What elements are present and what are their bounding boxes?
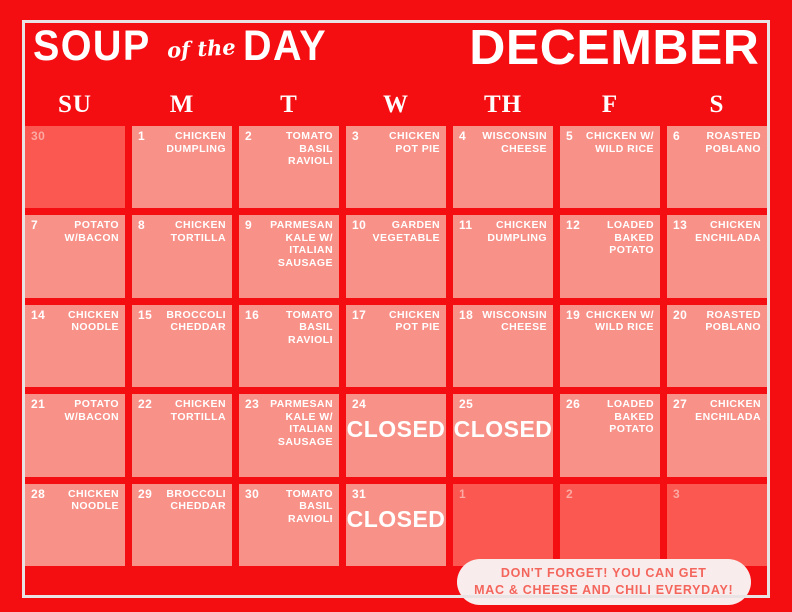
- day-number: 9: [245, 219, 252, 231]
- closed-label: CLOSED: [453, 416, 553, 443]
- title-script-word: of the: [166, 36, 236, 61]
- day-number: 24: [352, 398, 366, 410]
- calendar-day-cell[interactable]: 5CHICKEN W/ WILD RICE: [560, 126, 660, 208]
- weekday-m: M: [132, 91, 232, 119]
- day-number: 25: [459, 398, 473, 410]
- day-number: 8: [138, 219, 145, 231]
- soup-name: LOADED BAKED POTATO: [582, 219, 654, 257]
- calendar-day-cell[interactable]: 12LOADED BAKED POTATO: [560, 215, 660, 297]
- calendar-day-cell[interactable]: 3: [667, 484, 767, 566]
- day-number: 30: [245, 488, 259, 500]
- calendar-day-cell[interactable]: 24CLOSED: [346, 394, 446, 476]
- calendar-day-cell[interactable]: 28CHICKEN NOODLE: [25, 484, 125, 566]
- closed-label: CLOSED: [346, 506, 446, 533]
- soup-name: CHICKEN TORTILLA: [154, 398, 226, 423]
- day-number: 14: [31, 309, 45, 321]
- calendar-inner: SOUP of the DAY DECEMBER SU M T W TH F S…: [25, 23, 767, 595]
- title-day-word: DAY: [243, 25, 327, 68]
- promo-line-2: MAC & CHEESE AND CHILI EVERYDAY!: [474, 582, 733, 599]
- soup-name: BROCCOLI CHEDDAR: [154, 488, 226, 513]
- day-number: 23: [245, 398, 259, 410]
- calendar-day-cell[interactable]: 26LOADED BAKED POTATO: [560, 394, 660, 476]
- calendar-day-cell[interactable]: 25CLOSED: [453, 394, 553, 476]
- calendar-day-cell[interactable]: 1: [453, 484, 553, 566]
- calendar-day-cell[interactable]: 29BROCCOLI CHEDDAR: [132, 484, 232, 566]
- calendar-day-cell[interactable]: 8CHICKEN TORTILLA: [132, 215, 232, 297]
- day-number: 22: [138, 398, 152, 410]
- day-number: 19: [566, 309, 580, 321]
- calendar-day-cell[interactable]: 27CHICKEN ENCHILADA: [667, 394, 767, 476]
- calendar-day-cell[interactable]: 19CHICKEN W/ WILD RICE: [560, 305, 660, 387]
- soup-name: CHICKEN NOODLE: [47, 488, 119, 513]
- calendar-day-cell[interactable]: 18WISCONSIN CHEESE: [453, 305, 553, 387]
- calendar-day-cell[interactable]: 13CHICKEN ENCHILADA: [667, 215, 767, 297]
- day-number: 16: [245, 309, 259, 321]
- calendar-day-cell[interactable]: 23PARMESAN KALE W/ ITALIAN SAUSAGE: [239, 394, 339, 476]
- calendar-day-cell[interactable]: 3CHICKEN POT PIE: [346, 126, 446, 208]
- calendar-day-cell[interactable]: 14CHICKEN NOODLE: [25, 305, 125, 387]
- day-number: 17: [352, 309, 366, 321]
- day-number: 29: [138, 488, 152, 500]
- soup-name: BROCCOLI CHEDDAR: [154, 309, 226, 334]
- soup-name: WISCONSIN CHEESE: [475, 309, 547, 334]
- soup-name: PARMESAN KALE W/ ITALIAN SAUSAGE: [261, 219, 333, 269]
- soup-name: CHICKEN POT PIE: [368, 309, 440, 334]
- soup-name: ROASTED POBLANO: [689, 309, 761, 334]
- day-number: 31: [352, 488, 366, 500]
- calendar-day-cell[interactable]: 20ROASTED POBLANO: [667, 305, 767, 387]
- day-number: 2: [245, 130, 252, 142]
- soup-name: CHICKEN POT PIE: [368, 130, 440, 155]
- soup-of-the-day-title: SOUP of the DAY: [33, 25, 334, 68]
- title-soup-word: SOUP: [33, 25, 151, 68]
- day-number: 21: [31, 398, 45, 410]
- calendar-day-cell[interactable]: 11CHICKEN DUMPLING: [453, 215, 553, 297]
- promo-banner: DON'T FORGET! YOU CAN GET MAC & CHEESE A…: [457, 559, 751, 605]
- day-number: 5: [566, 130, 573, 142]
- calendar-grid: 301CHICKEN DUMPLING2TOMATO BASIL RAVIOLI…: [25, 126, 767, 566]
- soup-name: CHICKEN W/ WILD RICE: [582, 130, 654, 155]
- day-number: 3: [673, 488, 680, 500]
- soup-name: TOMATO BASIL RAVIOLI: [261, 488, 333, 526]
- calendar-day-cell[interactable]: 22CHICKEN TORTILLA: [132, 394, 232, 476]
- day-number: 6: [673, 130, 680, 142]
- calendar-day-cell[interactable]: 4WISCONSIN CHEESE: [453, 126, 553, 208]
- day-number: 27: [673, 398, 687, 410]
- calendar-day-cell[interactable]: 16TOMATO BASIL RAVIOLI: [239, 305, 339, 387]
- soup-name: POTATO W/BACON: [47, 219, 119, 244]
- calendar-day-cell[interactable]: 17CHICKEN POT PIE: [346, 305, 446, 387]
- soup-name: CHICKEN ENCHILADA: [689, 398, 761, 423]
- soup-name: GARDEN VEGETABLE: [368, 219, 440, 244]
- day-number: 28: [31, 488, 45, 500]
- calendar-day-cell[interactable]: 2TOMATO BASIL RAVIOLI: [239, 126, 339, 208]
- calendar-day-cell[interactable]: 10GARDEN VEGETABLE: [346, 215, 446, 297]
- day-number: 2: [566, 488, 573, 500]
- day-number: 7: [31, 219, 38, 231]
- calendar-header: SOUP of the DAY DECEMBER: [25, 23, 767, 85]
- day-number: 20: [673, 309, 687, 321]
- promo-line-1: DON'T FORGET! YOU CAN GET: [501, 565, 707, 582]
- weekday-header-row: SU M T W TH F S: [25, 87, 767, 123]
- day-number: 30: [31, 130, 45, 142]
- calendar-day-cell[interactable]: 30: [25, 126, 125, 208]
- month-title: DECEMBER: [469, 23, 759, 74]
- soup-name: CHICKEN DUMPLING: [154, 130, 226, 155]
- weekday-s: S: [667, 91, 767, 119]
- weekday-f: F: [560, 91, 660, 119]
- soup-name: CHICKEN DUMPLING: [475, 219, 547, 244]
- soup-name: PARMESAN KALE W/ ITALIAN SAUSAGE: [261, 398, 333, 448]
- calendar-day-cell[interactable]: 2: [560, 484, 660, 566]
- weekday-w: W: [346, 91, 446, 119]
- day-number: 11: [459, 219, 473, 231]
- day-number: 4: [459, 130, 466, 142]
- calendar-day-cell[interactable]: 15BROCCOLI CHEDDAR: [132, 305, 232, 387]
- day-number: 26: [566, 398, 580, 410]
- soup-name: LOADED BAKED POTATO: [582, 398, 654, 436]
- day-number: 10: [352, 219, 366, 231]
- day-number: 12: [566, 219, 580, 231]
- calendar-day-cell[interactable]: 30TOMATO BASIL RAVIOLI: [239, 484, 339, 566]
- calendar-day-cell[interactable]: 7POTATO W/BACON: [25, 215, 125, 297]
- day-number: 15: [138, 309, 152, 321]
- calendar-page: SOUP of the DAY DECEMBER SU M T W TH F S…: [0, 0, 792, 612]
- soup-name: CHICKEN NOODLE: [47, 309, 119, 334]
- calendar-day-cell[interactable]: 1CHICKEN DUMPLING: [132, 126, 232, 208]
- soup-name: CHICKEN W/ WILD RICE: [582, 309, 654, 334]
- weekday-th: TH: [453, 91, 553, 119]
- day-number: 1: [459, 488, 466, 500]
- soup-name: TOMATO BASIL RAVIOLI: [261, 309, 333, 347]
- calendar-day-cell[interactable]: 6ROASTED POBLANO: [667, 126, 767, 208]
- soup-name: CHICKEN TORTILLA: [154, 219, 226, 244]
- soup-name: ROASTED POBLANO: [689, 130, 761, 155]
- calendar-day-cell[interactable]: 9PARMESAN KALE W/ ITALIAN SAUSAGE: [239, 215, 339, 297]
- weekday-su: SU: [25, 91, 125, 119]
- day-number: 3: [352, 130, 359, 142]
- calendar-day-cell[interactable]: 31CLOSED: [346, 484, 446, 566]
- soup-name: CHICKEN ENCHILADA: [689, 219, 761, 244]
- soup-name: WISCONSIN CHEESE: [475, 130, 547, 155]
- soup-name: POTATO W/BACON: [47, 398, 119, 423]
- soup-name: TOMATO BASIL RAVIOLI: [261, 130, 333, 168]
- day-number: 1: [138, 130, 145, 142]
- closed-label: CLOSED: [346, 416, 446, 443]
- calendar-day-cell[interactable]: 21POTATO W/BACON: [25, 394, 125, 476]
- weekday-t: T: [239, 91, 339, 119]
- day-number: 13: [673, 219, 687, 231]
- day-number: 18: [459, 309, 473, 321]
